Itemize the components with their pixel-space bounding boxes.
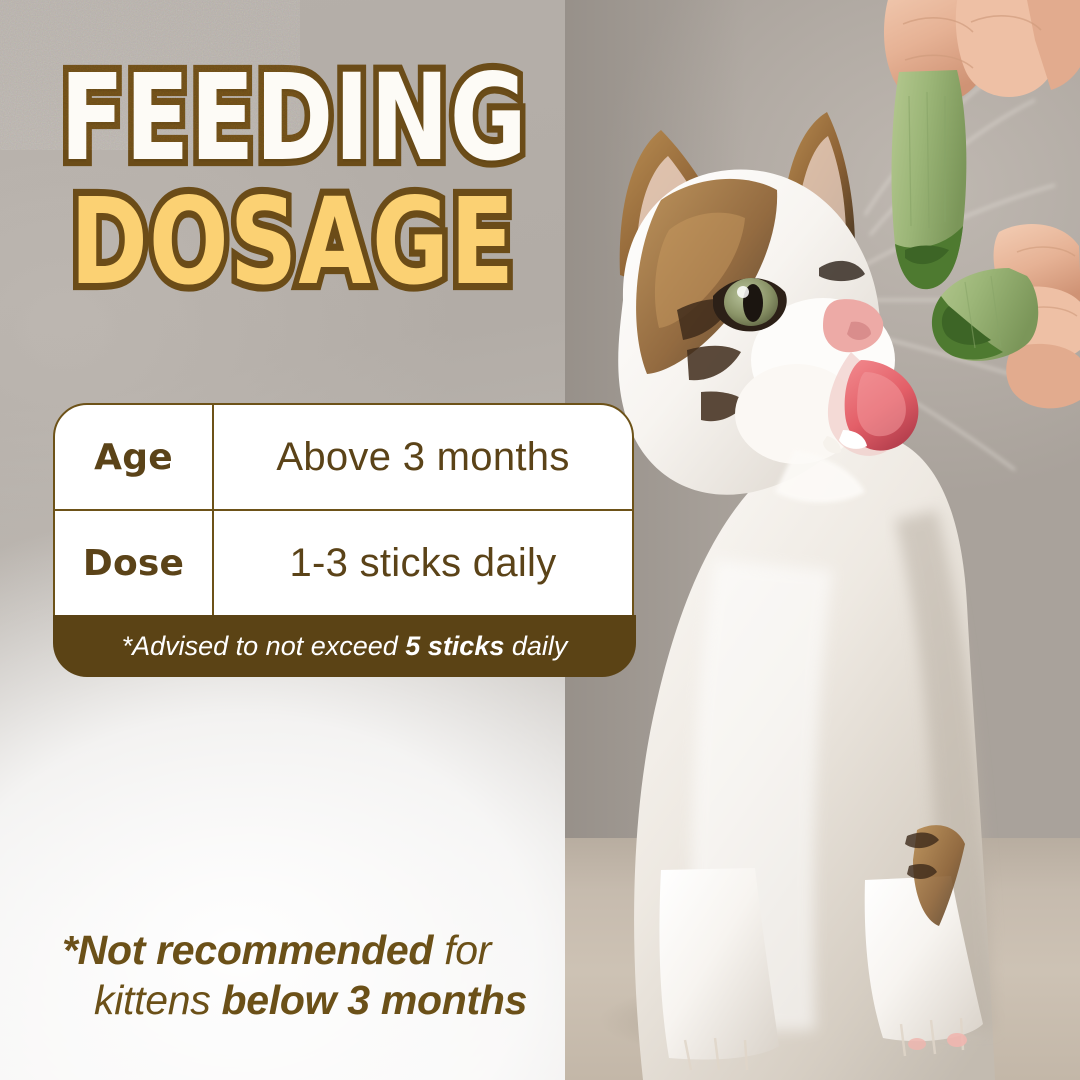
poster-canvas: FEEDING DOSAGE Age Above 3 months Dose 1… [0,0,1080,1080]
footer-line1-strong: *Not recommended [62,927,433,973]
table-row-value: Above 3 months [214,405,632,509]
dosage-table: Age Above 3 months Dose 1-3 sticks daily [53,403,634,617]
dosage-card: Age Above 3 months Dose 1-3 sticks daily… [53,403,636,677]
footer-disclaimer: *Not recommended for kittens below 3 mon… [62,925,622,1025]
table-row-value: 1-3 sticks daily [214,511,632,615]
table-row: Dose 1-3 sticks daily [55,511,632,615]
page-title: FEEDING DOSAGE [60,60,580,274]
dosage-warning-bar: *Advised to not exceed 5 sticks daily [53,615,636,677]
footer-line1-rest: for [433,927,491,973]
footer-line-2: kittens below 3 months [94,975,622,1025]
title-line-dosage: DOSAGE [70,184,580,274]
footer-line2-rest: kittens [94,977,222,1023]
note-prefix: *Advised to not exceed [122,631,406,661]
table-row-label: Age [55,405,214,509]
title-line-feeding: FEEDING [60,60,580,150]
note-suffix: daily [504,631,567,661]
kitten-photo [565,0,1080,1080]
table-row: Age Above 3 months [55,405,632,511]
footer-line2-strong: below 3 months [222,977,528,1023]
kitten-illustration [565,0,1080,1080]
footer-line-1: *Not recommended for [62,925,622,975]
dosage-warning-text: *Advised to not exceed 5 sticks daily [122,631,568,662]
table-row-label: Dose [55,511,214,615]
note-strong: 5 sticks [405,631,504,661]
